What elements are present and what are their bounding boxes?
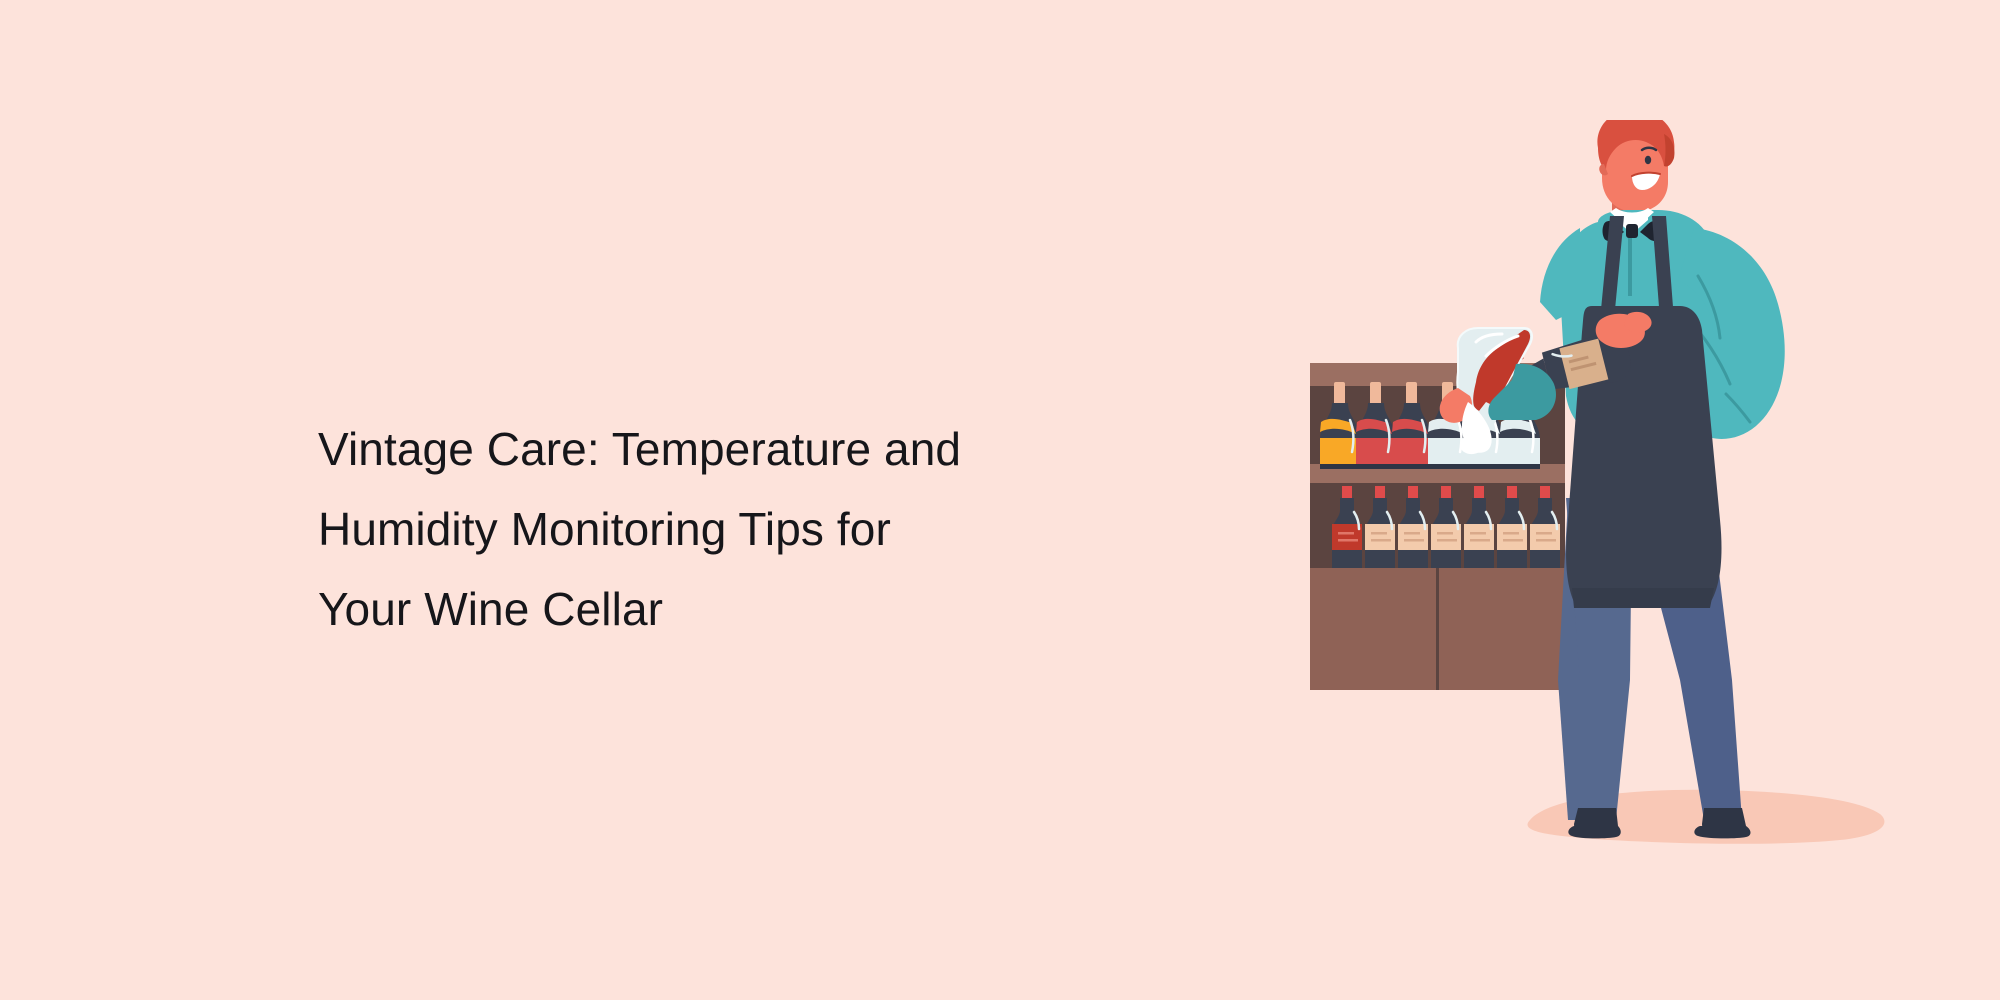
cabinet-door-divider-icon xyxy=(1436,568,1439,690)
page-title-line-2: Humidity Monitoring Tips for xyxy=(318,489,1138,569)
page-title-line-1: Vintage Care: Temperature and xyxy=(318,409,1138,489)
page-root: Vintage Care: Temperature and Humidity M… xyxy=(0,0,2000,1000)
page-title-line-3: Your Wine Cellar xyxy=(318,569,1138,649)
page-title: Vintage Care: Temperature and Humidity M… xyxy=(318,409,1138,649)
sommelier-illustration xyxy=(1280,120,1900,860)
